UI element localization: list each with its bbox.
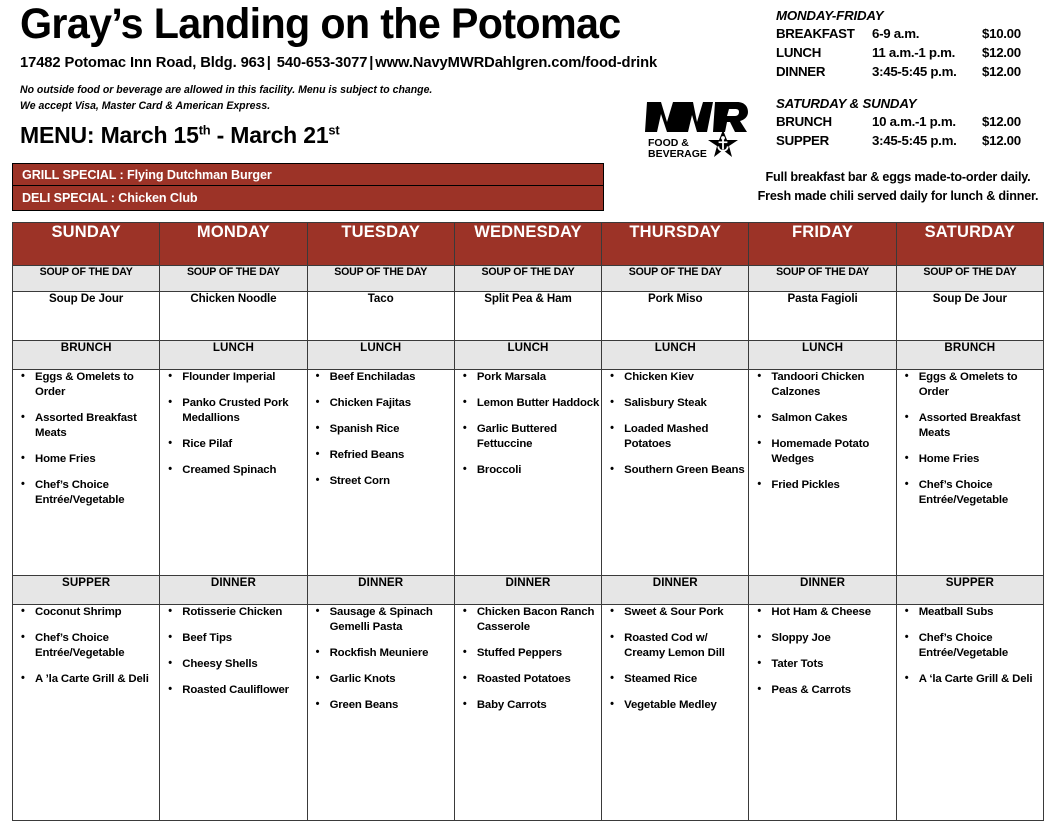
midday-label-monday: LUNCH — [160, 341, 307, 370]
midday-label-tuesday: LUNCH — [307, 341, 454, 370]
day-header-tuesday: TUESDAY — [307, 223, 454, 266]
meal-price: $12.00 — [982, 62, 1021, 81]
menu-item: Refried Beans — [308, 448, 454, 463]
menu-item: Garlic Buttered Fettuccine — [455, 422, 601, 452]
hours-row: DINNER 3:45-5:45 p.m. $12.00 — [776, 62, 1044, 81]
soup-value-row: Soup De Jour Chicken Noodle Taco Split P… — [13, 292, 1044, 341]
day-header-friday: FRIDAY — [749, 223, 896, 266]
menu-item: Chef’s Choice Entrée/Vegetable — [897, 631, 1043, 661]
menu-item-list: Tandoori Chicken CalzonesSalmon CakesHom… — [749, 370, 895, 493]
midday-items-saturday: Eggs & Omelets to OrderAssorted Breakfas… — [896, 370, 1043, 576]
midday-items-tuesday: Beef Enchiladas Chicken FajitasSpanish R… — [307, 370, 454, 576]
daily-notes: Full breakfast bar & eggs made-to-order … — [748, 168, 1048, 206]
menu-item: Garlic Knots — [308, 672, 454, 687]
meal-time: 10 a.m.-1 p.m. — [872, 112, 982, 131]
menu-item: Loaded Mashed Potatoes — [602, 422, 748, 452]
menu-item: Assorted Breakfast Meats — [897, 411, 1043, 441]
menu-date-range: MENU: March 15th - March 21st — [20, 122, 720, 149]
deli-special-banner: DELI SPECIAL : Chicken Club — [12, 186, 604, 211]
menu-item: Coconut Shrimp — [13, 605, 159, 620]
menu-item: Flounder Imperial — [160, 370, 306, 385]
menu-item-list: Chicken KievSalisbury SteakLoaded Mashed… — [602, 370, 748, 478]
menu-item-list: Beef Enchiladas Chicken FajitasSpanish R… — [308, 370, 454, 489]
evening-items-tuesday: Sausage & Spinach Gemelli PastaRockfish … — [307, 605, 454, 821]
soup-value-saturday: Soup De Jour — [896, 292, 1043, 341]
menu-item: Rice Pilaf — [160, 437, 306, 452]
soup-of-the-day-label: SOUP OF THE DAY — [749, 266, 896, 292]
menu-range-start: MENU: March 15 — [20, 122, 199, 148]
menu-item: Cheesy Shells — [160, 657, 306, 672]
midday-items-thursday: Chicken KievSalisbury SteakLoaded Mashed… — [602, 370, 749, 576]
menu-item-list: Pork MarsalaLemon Butter HaddockGarlic B… — [455, 370, 601, 478]
menu-item-list: Flounder ImperialPanko Crusted Pork Meda… — [160, 370, 306, 478]
soup-value-friday: Pasta Fagioli — [749, 292, 896, 341]
hours-row: BRUNCH 10 a.m.-1 p.m. $12.00 — [776, 112, 1044, 131]
midday-items-monday: Flounder ImperialPanko Crusted Pork Meda… — [160, 370, 307, 576]
menu-item: Spanish Rice — [308, 422, 454, 437]
soup-of-the-day-label: SOUP OF THE DAY — [454, 266, 601, 292]
day-header-thursday: THURSDAY — [602, 223, 749, 266]
menu-item: Vegetable Medley — [602, 698, 748, 713]
menu-range-start-ordinal: th — [199, 123, 211, 138]
meal-time: 3:45-5:45 p.m. — [872, 131, 982, 150]
midday-label-wednesday: LUNCH — [454, 341, 601, 370]
evening-items-friday: Hot Ham & CheeseSloppy JoeTater TotsPeas… — [749, 605, 896, 821]
menu-item-list: Meatball SubsChef’s Choice Entrée/Vegeta… — [897, 605, 1043, 687]
menu-item: Rockfish Meuniere — [308, 646, 454, 661]
menu-item: Salmon Cakes — [749, 411, 895, 426]
menu-item: Steamed Rice — [602, 672, 748, 687]
day-header-saturday: SATURDAY — [896, 223, 1043, 266]
menu-item-list: Sweet & Sour PorkRoasted Cod w/ Creamy L… — [602, 605, 748, 713]
meal-time: 3:45-5:45 p.m. — [872, 62, 982, 81]
soup-of-the-day-label: SOUP OF THE DAY — [13, 266, 160, 292]
menu-item: Beef Enchiladas — [308, 370, 454, 385]
midday-items-sunday: Eggs & Omelets to OrderAssorted Breakfas… — [13, 370, 160, 576]
menu-item-list: Chicken Bacon Ranch CasseroleStuffed Pep… — [455, 605, 601, 713]
midday-label-sunday: BRUNCH — [13, 341, 160, 370]
day-header-monday: MONDAY — [160, 223, 307, 266]
menu-item-list: Hot Ham & CheeseSloppy JoeTater TotsPeas… — [749, 605, 895, 698]
hours-spacer — [776, 83, 1044, 96]
menu-range-end-ordinal: st — [328, 123, 339, 138]
soup-of-the-day-label: SOUP OF THE DAY — [160, 266, 307, 292]
meal-time: 6-9 a.m. — [872, 24, 982, 43]
soup-value-wednesday: Split Pea & Ham — [454, 292, 601, 341]
menu-item: Street Corn — [308, 474, 454, 489]
grill-special-banner: GRILL SPECIAL : Flying Dutchman Burger — [12, 163, 604, 186]
midday-label-row: BRUNCH LUNCH LUNCH LUNCH LUNCH LUNCH BRU… — [13, 341, 1044, 370]
evening-items-thursday: Sweet & Sour PorkRoasted Cod w/ Creamy L… — [602, 605, 749, 821]
soup-value-thursday: Pork Miso — [602, 292, 749, 341]
contact-line: 17482 Potomac Inn Road, Bldg. 963| 540-6… — [20, 54, 699, 71]
meal-time: 11 a.m.-1 p.m. — [872, 43, 982, 62]
menu-item: Sloppy Joe — [749, 631, 895, 646]
menu-item: Rotisserie Chicken — [160, 605, 306, 620]
hours-and-prices: MONDAY-FRIDAY BREAKFAST 6-9 a.m. $10.00 … — [776, 8, 1044, 152]
menu-item: Lemon Butter Haddock — [455, 396, 601, 411]
evening-label-tuesday: DINNER — [307, 576, 454, 605]
phone-number[interactable]: 540-653-3077 — [277, 54, 368, 71]
hours-row: BREAKFAST 6-9 a.m. $10.00 — [776, 24, 1044, 43]
weekday-hours-heading: MONDAY-FRIDAY — [776, 8, 1044, 23]
day-header-sunday: SUNDAY — [13, 223, 160, 266]
menu-item: Roasted Cauliflower — [160, 683, 306, 698]
menu-item: Chef’s Choice Entrée/Vegetable — [897, 478, 1043, 508]
day-header-wednesday: WEDNESDAY — [454, 223, 601, 266]
weekend-hours-group: SATURDAY & SUNDAY BRUNCH 10 a.m.-1 p.m. … — [776, 96, 1044, 150]
meal-price: $12.00 — [982, 112, 1021, 131]
menu-item: Chicken Fajitas — [308, 396, 454, 411]
evening-label-sunday: SUPPER — [13, 576, 160, 605]
menu-item: A ‘la Carte Grill & Deli — [897, 672, 1043, 687]
menu-item: Salisbury Steak — [602, 396, 748, 411]
evening-items-saturday: Meatball SubsChef’s Choice Entrée/Vegeta… — [896, 605, 1043, 821]
menu-item-list: Rotisserie ChickenBeef TipsCheesy Shells… — [160, 605, 306, 698]
menu-item: Sausage & Spinach Gemelli Pasta — [308, 605, 454, 635]
menu-item: Peas & Carrots — [749, 683, 895, 698]
meal-name: BRUNCH — [776, 112, 872, 131]
menu-item: Homemade Potato Wedges — [749, 437, 895, 467]
midday-label-friday: LUNCH — [749, 341, 896, 370]
weekday-hours-group: MONDAY-FRIDAY BREAKFAST 6-9 a.m. $10.00 … — [776, 8, 1044, 81]
soup-of-the-day-label: SOUP OF THE DAY — [602, 266, 749, 292]
specials-block: GRILL SPECIAL : Flying Dutchman Burger D… — [12, 163, 604, 211]
page-title: Gray’s Landing on the Potomac — [20, 2, 692, 47]
menu-item: Meatball Subs — [897, 605, 1043, 620]
evening-items-row: Coconut ShrimpChef’s Choice Entrée/Veget… — [13, 605, 1044, 821]
meal-price: $10.00 — [982, 24, 1021, 43]
menu-item: Beef Tips — [160, 631, 306, 646]
meal-name: DINNER — [776, 62, 872, 81]
policy-notice-line-1: No outside food or beverage are allowed … — [20, 82, 671, 98]
menu-range-end: - March 21 — [210, 122, 328, 148]
weekend-hours-heading: SATURDAY & SUNDAY — [776, 96, 1044, 111]
menu-item: Eggs & Omelets to Order — [897, 370, 1043, 400]
header-left-block: Gray’s Landing on the Potomac 17482 Poto… — [20, 2, 720, 149]
contact-separator-1: | — [265, 54, 273, 71]
menu-item: Southern Green Beans — [602, 463, 748, 478]
meal-price: $12.00 — [982, 43, 1021, 62]
menu-item-list: Eggs & Omelets to OrderAssorted Breakfas… — [13, 370, 159, 508]
soup-label-row: SOUP OF THE DAY SOUP OF THE DAY SOUP OF … — [13, 266, 1044, 292]
daily-note-line-2: Fresh made chili served daily for lunch … — [748, 187, 1048, 206]
menu-item: Tater Tots — [749, 657, 895, 672]
meal-name: LUNCH — [776, 43, 872, 62]
menu-item: Fried Pickles — [749, 478, 895, 493]
evening-items-sunday: Coconut ShrimpChef’s Choice Entrée/Veget… — [13, 605, 160, 821]
soup-of-the-day-label: SOUP OF THE DAY — [896, 266, 1043, 292]
menu-item: Stuffed Peppers — [455, 646, 601, 661]
daily-note-line-1: Full breakfast bar & eggs made-to-order … — [748, 168, 1048, 187]
menu-item: Roasted Cod w/ Creamy Lemon Dill — [602, 631, 748, 661]
menu-item: A ’la Carte Grill & Deli — [13, 672, 159, 687]
midday-items-friday: Tandoori Chicken CalzonesSalmon CakesHom… — [749, 370, 896, 576]
soup-value-sunday: Soup De Jour — [13, 292, 160, 341]
midday-label-thursday: LUNCH — [602, 341, 749, 370]
evening-label-row: SUPPER DINNER DINNER DINNER DINNER DINNE… — [13, 576, 1044, 605]
evening-label-saturday: SUPPER — [896, 576, 1043, 605]
soup-value-monday: Chicken Noodle — [160, 292, 307, 341]
hours-row: SUPPER 3:45-5:45 p.m. $12.00 — [776, 131, 1044, 150]
menu-item: Hot Ham & Cheese — [749, 605, 895, 620]
evening-items-monday: Rotisserie ChickenBeef TipsCheesy Shells… — [160, 605, 307, 821]
menu-item-list: Eggs & Omelets to OrderAssorted Breakfas… — [897, 370, 1043, 508]
meal-price: $12.00 — [982, 131, 1021, 150]
menu-item: Baby Carrots — [455, 698, 601, 713]
weekly-menu-table: SUNDAY MONDAY TUESDAY WEDNESDAY THURSDAY… — [12, 222, 1044, 821]
page-header: Gray’s Landing on the Potomac 17482 Poto… — [0, 0, 1056, 218]
evening-label-wednesday: DINNER — [454, 576, 601, 605]
menu-item: Creamed Spinach — [160, 463, 306, 478]
hours-row: LUNCH 11 a.m.-1 p.m. $12.00 — [776, 43, 1044, 62]
meal-name: SUPPER — [776, 131, 872, 150]
menu-item: Home Fries — [13, 452, 159, 467]
evening-label-friday: DINNER — [749, 576, 896, 605]
evening-label-thursday: DINNER — [602, 576, 749, 605]
soup-of-the-day-label: SOUP OF THE DAY — [307, 266, 454, 292]
website-link[interactable]: www.NavyMWRDahlgren.com/food-drink — [375, 54, 657, 71]
soup-value-tuesday: Taco — [307, 292, 454, 341]
meal-name: BREAKFAST — [776, 24, 872, 43]
evening-items-wednesday: Chicken Bacon Ranch CasseroleStuffed Pep… — [454, 605, 601, 821]
menu-item: Chef’s Choice Entrée/Vegetable — [13, 478, 159, 508]
day-header-row: SUNDAY MONDAY TUESDAY WEDNESDAY THURSDAY… — [13, 223, 1044, 266]
address-text: 17482 Potomac Inn Road, Bldg. 963 — [20, 54, 265, 71]
midday-label-saturday: BRUNCH — [896, 341, 1043, 370]
menu-item: Home Fries — [897, 452, 1043, 467]
menu-item: Roasted Potatoes — [455, 672, 601, 687]
mwr-food-beverage-logo: FOOD & BEVERAGE — [643, 94, 753, 160]
menu-item-list: Sausage & Spinach Gemelli PastaRockfish … — [308, 605, 454, 713]
menu-item: Chicken Kiev — [602, 370, 748, 385]
menu-item: Pork Marsala — [455, 370, 601, 385]
menu-item: Chef’s Choice Entrée/Vegetable — [13, 631, 159, 661]
menu-item: Tandoori Chicken Calzones — [749, 370, 895, 400]
menu-item: Green Beans — [308, 698, 454, 713]
menu-item: Panko Crusted Pork Medallions — [160, 396, 306, 426]
policy-notice: No outside food or beverage are allowed … — [20, 82, 671, 114]
menu-item: Eggs & Omelets to Order — [13, 370, 159, 400]
menu-item: Assorted Breakfast Meats — [13, 411, 159, 441]
midday-items-row: Eggs & Omelets to OrderAssorted Breakfas… — [13, 370, 1044, 576]
midday-items-wednesday: Pork MarsalaLemon Butter HaddockGarlic B… — [454, 370, 601, 576]
evening-label-monday: DINNER — [160, 576, 307, 605]
policy-notice-line-2: We accept Visa, Master Card & American E… — [20, 98, 671, 114]
logo-beverage-label: BEVERAGE — [648, 148, 707, 160]
menu-item: Chicken Bacon Ranch Casserole — [455, 605, 601, 635]
menu-item: Broccoli — [455, 463, 601, 478]
menu-item: Sweet & Sour Pork — [602, 605, 748, 620]
menu-item-list: Coconut ShrimpChef’s Choice Entrée/Veget… — [13, 605, 159, 687]
